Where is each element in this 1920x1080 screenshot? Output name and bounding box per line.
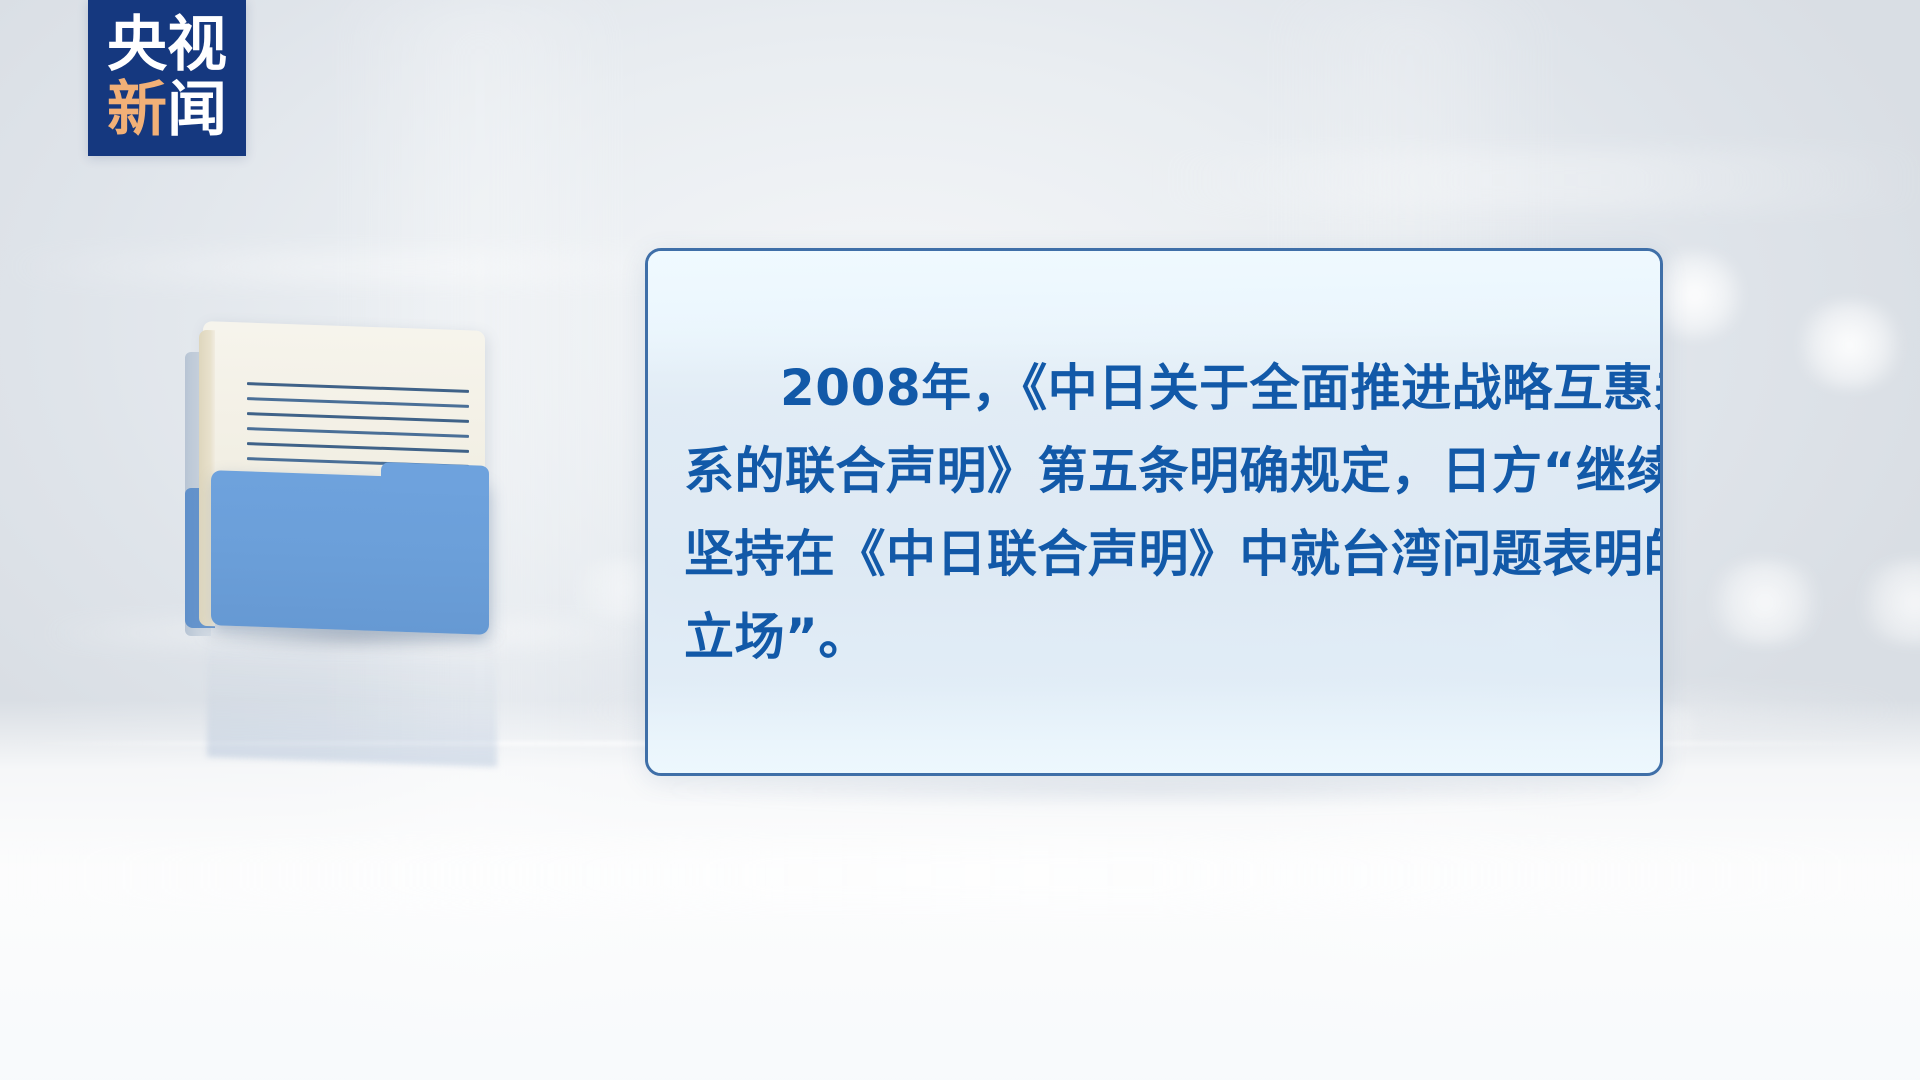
folder-tab [381,462,489,496]
quote-card: 2008年，《中日关于全面推进战略互惠关 系的联合声明》第五条明确规定，日方“继… [645,248,1663,776]
paper-line [247,427,469,438]
background-glow-2 [1790,300,1910,390]
document-folder-icon [185,320,495,660]
logo-char-yang: 央 [107,15,167,76]
screenshot-stage: 央 视 新 闻 2008年，《中日 [0,0,1920,1080]
quote-line-4: 立场”。 [684,604,1624,671]
folder-reflection [207,627,497,767]
card-ground-shadow [660,770,1650,810]
quote-line-2: 系的联合声明》第五条明确规定，日方“继续 [684,438,1624,505]
quote-line-3: 坚持在《中日联合声明》中就台湾问题表明的 [684,521,1624,588]
paper-line [247,412,469,423]
paper-line [247,397,469,408]
paper-line [247,442,469,453]
quote-text-block: 2008年，《中日关于全面推进战略互惠关 系的联合声明》第五条明确规定，日方“继… [648,251,1660,773]
cctv-news-logo: 央 视 新 闻 [88,0,246,156]
folder-front-cover [211,470,489,635]
background-glow-3 [1700,560,1830,645]
background-streak-2 [1150,150,1920,210]
logo-char-shi: 视 [167,15,227,76]
logo-line-xinwen: 新 闻 [107,80,227,141]
quote-line-1: 2008年，《中日关于全面推进战略互惠关 [684,355,1624,422]
logo-char-wen: 闻 [167,80,227,141]
logo-char-xin: 新 [107,80,167,141]
logo-line-yangshi: 央 视 [107,15,227,76]
background-streak-5 [0,840,1920,910]
